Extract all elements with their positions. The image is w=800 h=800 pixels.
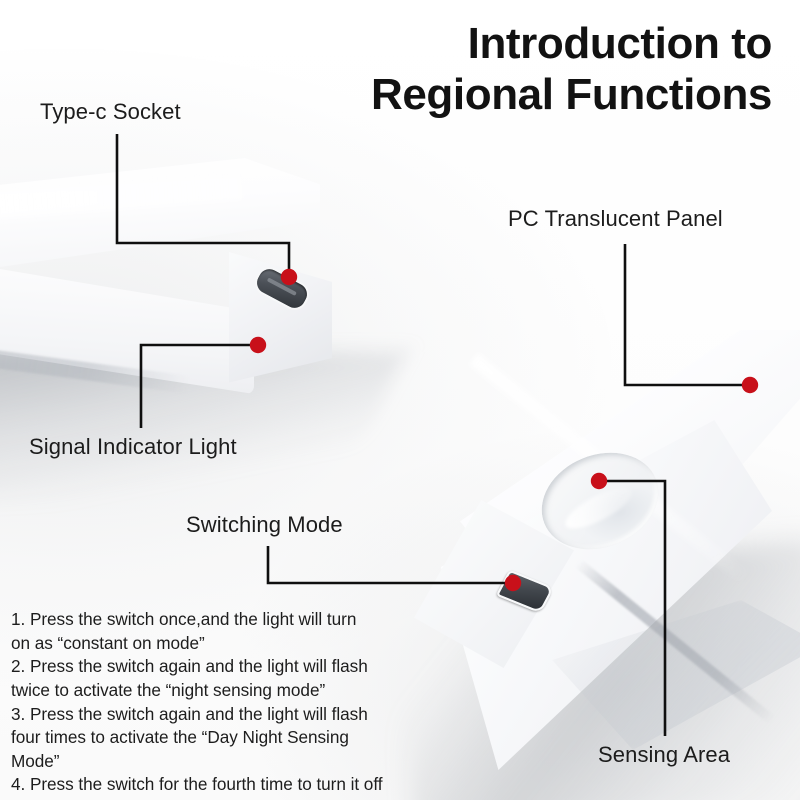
page-title: Introduction to Regional Functions [352, 18, 772, 121]
product-light-bar-left [0, 158, 370, 408]
instruction-line-4: twice to activate the “night sensing mod… [11, 679, 383, 703]
callout-label-sensing-area: Sensing Area [598, 742, 730, 768]
callout-label-type-c-socket: Type-c Socket [40, 99, 181, 125]
operating-instructions: 1. Press the switch once,and the light w… [11, 608, 383, 800]
left-bar-top-face [0, 158, 320, 278]
infographic-canvas: Introduction to Regional Functions Type-… [0, 0, 800, 800]
title-line-2: Regional Functions [352, 69, 772, 120]
callout-label-signal-indicator: Signal Indicator Light [29, 434, 237, 460]
instruction-line-5: 3. Press the switch again and the light … [11, 703, 383, 727]
instruction-line-2: on as “constant on mode” [11, 632, 383, 656]
instruction-line-3: 2. Press the switch again and the light … [11, 655, 383, 679]
instruction-line-7: 4. Press the switch for the fourth time … [11, 773, 383, 797]
right-bar-body [402, 300, 800, 770]
callout-label-pc-panel: PC Translucent Panel [508, 206, 723, 232]
instruction-line-1: 1. Press the switch once,and the light w… [11, 608, 383, 632]
product-light-bar-right [402, 300, 800, 770]
instruction-line-6: four times to activate the “Day Night Se… [11, 726, 383, 773]
title-line-1: Introduction to [352, 18, 772, 69]
callout-label-switching-mode: Switching Mode [186, 512, 343, 538]
